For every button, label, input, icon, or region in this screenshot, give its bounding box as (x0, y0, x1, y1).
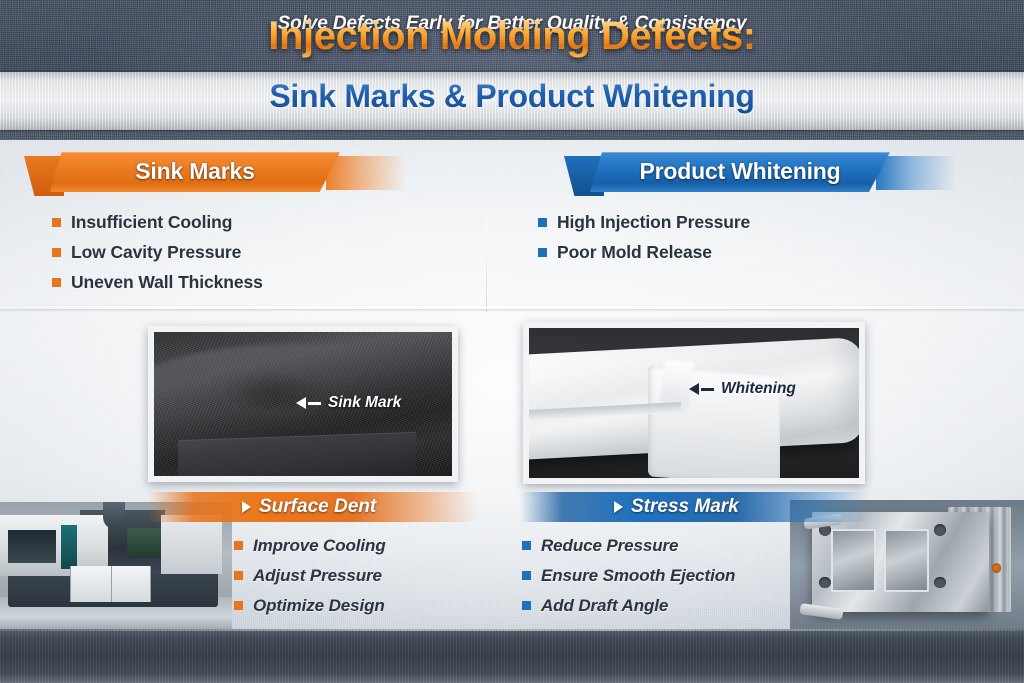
arrow-stem (701, 388, 714, 391)
square-bullet-icon (52, 218, 61, 227)
solution-label: Add Draft Angle (541, 596, 668, 616)
triangle-right-icon (614, 501, 623, 513)
cause-label: Low Cavity Pressure (71, 242, 241, 263)
square-bullet-icon (52, 248, 61, 257)
mold-bore-hole (819, 577, 831, 589)
machine-hopper (103, 502, 124, 528)
cause-list-product-whitening: High Injection Pressure Poor Mold Releas… (538, 212, 750, 272)
square-bullet-icon (234, 541, 243, 550)
solution-banner-stress-mark: Stress Mark (520, 492, 870, 522)
square-bullet-icon (522, 601, 531, 610)
ribbon-tail-right (876, 156, 956, 190)
list-item: Optimize Design (234, 596, 386, 616)
vertical-divider (486, 200, 487, 312)
list-item: Improve Cooling (234, 536, 386, 556)
horizontal-divider (0, 306, 1024, 309)
photo-sink-mark-frame: Sink Mark (148, 326, 458, 482)
solution-label: Ensure Smooth Ejection (541, 566, 735, 586)
solution-banner-label: Surface Dent (259, 496, 376, 518)
list-item: High Injection Pressure (538, 212, 750, 233)
list-item: Insufficient Cooling (52, 212, 263, 233)
section-banner-label: Product Whitening (639, 158, 840, 185)
solution-label: Improve Cooling (253, 536, 386, 556)
arrow-left-icon (296, 397, 306, 409)
list-item: Low Cavity Pressure (52, 242, 263, 263)
section-banner-label: Sink Marks (135, 158, 254, 185)
cause-label: Poor Mold Release (557, 242, 712, 263)
part-lower-section (178, 432, 416, 476)
triangle-right-icon (242, 501, 251, 513)
machine-door-seam (111, 566, 112, 602)
solution-label: Adjust Pressure (253, 566, 382, 586)
footer-band (0, 629, 1024, 683)
cause-label: Insufficient Cooling (71, 212, 232, 233)
cause-label: Uneven Wall Thickness (71, 272, 263, 293)
list-item: Uneven Wall Thickness (52, 272, 263, 293)
machine-control-panel (61, 525, 78, 569)
machine-window (8, 530, 56, 563)
callout-label: Sink Mark (328, 394, 401, 412)
solution-list-sink-marks: Improve Cooling Adjust Pressure Optimize… (234, 536, 386, 626)
machine-right-panel (161, 515, 223, 574)
square-bullet-icon (234, 571, 243, 580)
photo-whitening: Whitening (529, 328, 859, 478)
ribbon-body: Product Whitening (590, 152, 890, 192)
solution-banner-label: Stress Mark (631, 496, 739, 518)
callout-sink-mark: Sink Mark (296, 394, 401, 412)
square-bullet-icon (538, 218, 547, 227)
solution-banner-label-wrap: Surface Dent (242, 496, 376, 518)
footer-divider (0, 629, 1024, 631)
cause-list-sink-marks: Insufficient Cooling Low Cavity Pressure… (52, 212, 263, 302)
section-banner-sink-marks: Sink Marks (50, 152, 340, 192)
square-bullet-icon (538, 248, 547, 257)
mold-indicator-dot (992, 563, 1002, 572)
square-bullet-icon (522, 541, 531, 550)
mold-cavity-right (884, 529, 930, 592)
photo-whitening-frame: Whitening (523, 322, 865, 484)
ribbon-tail-right (326, 156, 406, 190)
photo-sink-mark: Sink Mark (154, 332, 452, 476)
mold-bore-hole (934, 524, 946, 536)
callout-whitening: Whitening (689, 380, 796, 398)
solution-list-product-whitening: Reduce Pressure Ensure Smooth Ejection A… (522, 536, 735, 626)
mold-cavity-left (831, 529, 877, 592)
section-banner-product-whitening: Product Whitening (590, 152, 890, 192)
solution-banner-label-wrap: Stress Mark (614, 496, 739, 518)
arrow-left-icon (689, 383, 699, 395)
list-item: Poor Mold Release (538, 242, 750, 263)
page-subtitle: Sink Marks & Product Whitening (0, 78, 1024, 115)
list-item: Reduce Pressure (522, 536, 735, 556)
list-item: Adjust Pressure (234, 566, 386, 586)
square-bullet-icon (52, 278, 61, 287)
solution-banner-surface-dent: Surface Dent (148, 492, 478, 522)
solution-label: Optimize Design (253, 596, 385, 616)
page-title: Injection Molding Defects: (0, 14, 1024, 59)
list-item: Ensure Smooth Ejection (522, 566, 735, 586)
list-item: Add Draft Angle (522, 596, 735, 616)
infographic-poster: Injection Molding Defects: Sink Marks & … (0, 0, 1024, 683)
square-bullet-icon (234, 601, 243, 610)
ribbon-body: Sink Marks (50, 152, 340, 192)
cause-label: High Injection Pressure (557, 212, 750, 233)
callout-label: Whitening (721, 380, 796, 398)
solution-label: Reduce Pressure (541, 536, 678, 556)
square-bullet-icon (522, 571, 531, 580)
arrow-stem (308, 402, 321, 405)
